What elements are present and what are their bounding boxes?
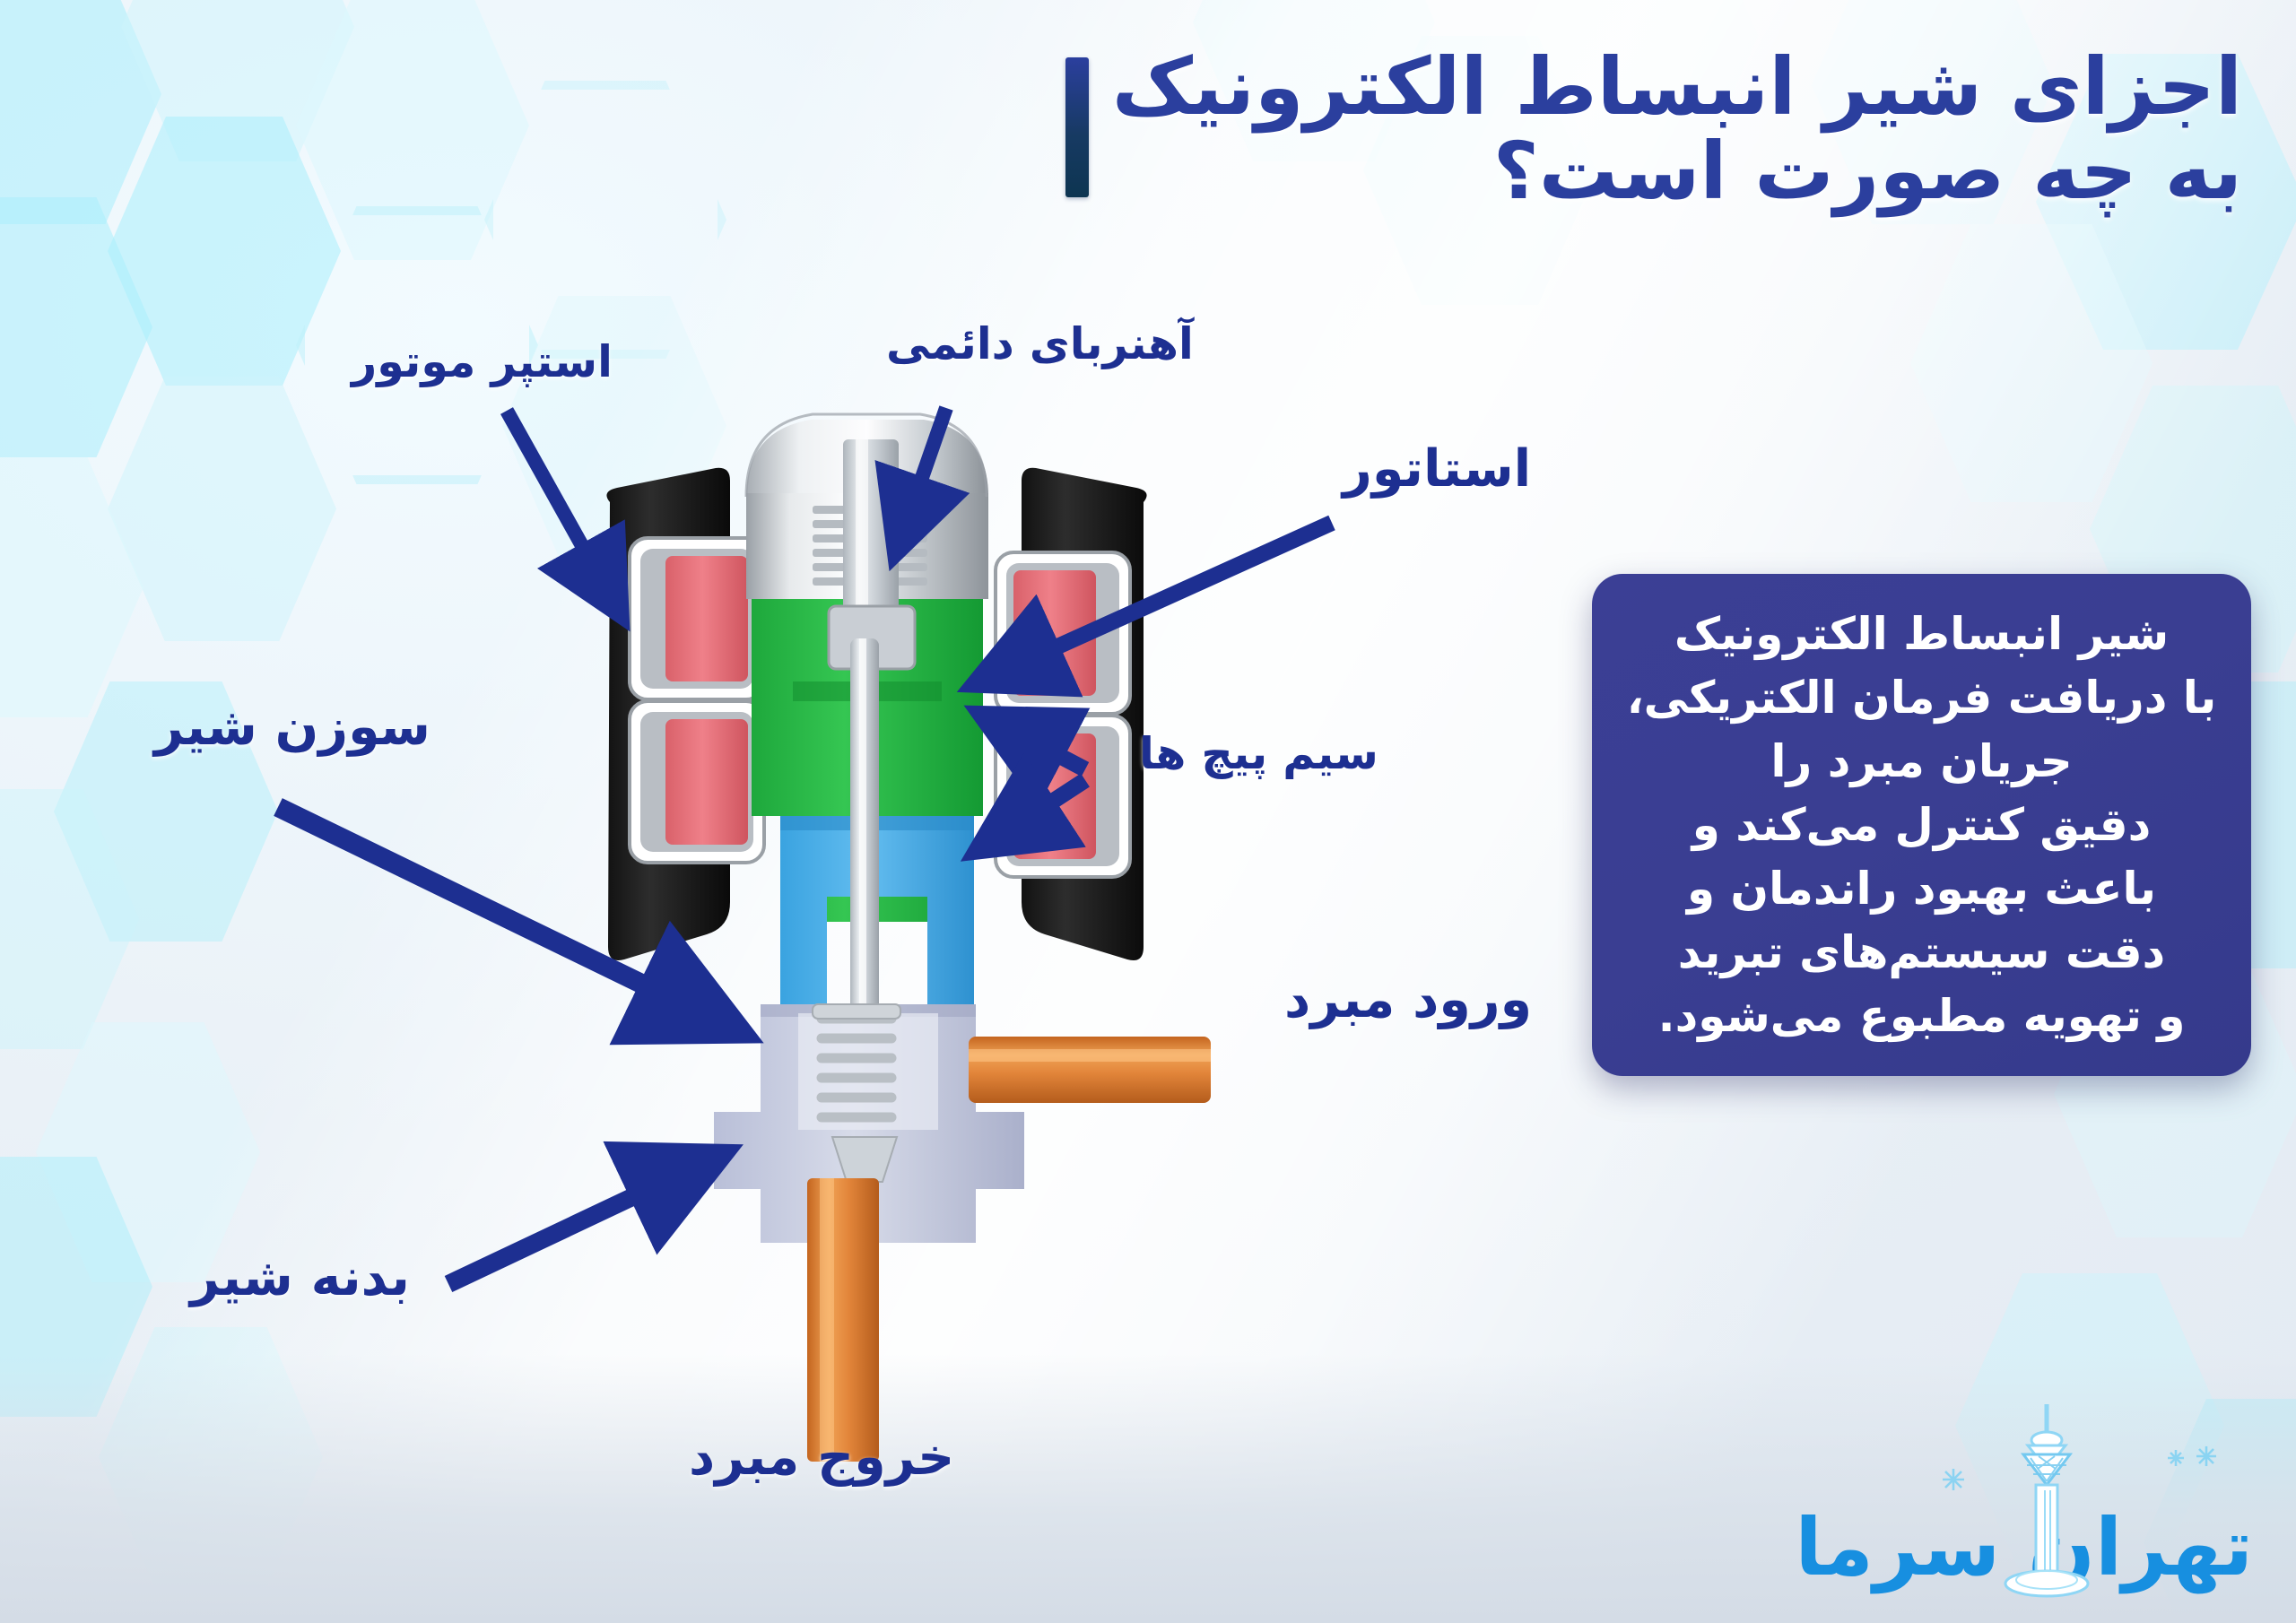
callout-label-refrigerant-outlet: خروج مبرد: [689, 1428, 954, 1487]
callout-label-valve-needle: سوزن شیر: [154, 698, 430, 757]
info-line: باعث بهبود راندمان و: [1622, 857, 2221, 921]
info-card: شیر انبساط الکترونیک با دریافت فرمان الک…: [1592, 574, 2251, 1076]
info-line: جریان مبرد را: [1622, 730, 2221, 794]
milad-tower-icon: [1910, 1404, 2260, 1610]
title-line-2: به چه صورت است؟: [1112, 129, 2242, 213]
info-line: دقیق کنترل می‌کند و: [1622, 794, 2221, 857]
info-line: و تهویه مطبوع می‌شود.: [1622, 985, 2221, 1048]
callout-label-valve-body: بدنه شیر: [190, 1248, 410, 1307]
infographic-canvas: اجزای شیر انبساط الکترونیک به چه صورت اس…: [0, 0, 2296, 1623]
brand-logo[interactable]: تهران سرما: [1910, 1404, 2260, 1610]
info-line: با دریافت فرمان الکتریکی،: [1622, 666, 2221, 730]
callout-label-permanent-magnet: آهنربای دائمی: [886, 318, 1194, 369]
callout-label-stepper-motor: استپر موتور: [352, 336, 613, 387]
page-title: اجزای شیر انبساط الکترونیک به چه صورت اس…: [1065, 45, 2242, 213]
title-line-1: اجزای شیر انبساط الکترونیک: [1112, 40, 2242, 133]
title-accent-bar: [1065, 57, 1089, 197]
callout-label-refrigerant-inlet: ورود مبرد: [1284, 970, 1532, 1029]
callout-label-stator: استاتور: [1343, 439, 1531, 499]
info-line: دقت سیستم‌های تبرید: [1622, 921, 2221, 985]
page-title-text: اجزای شیر انبساط الکترونیک به چه صورت اس…: [1112, 45, 2242, 213]
callout-label-coils: سیم پیچ ها: [1139, 728, 1378, 779]
info-line: شیر انبساط الکترونیک: [1622, 603, 2221, 666]
expansion-valve-cutaway-illustration: [547, 386, 1211, 1462]
info-card-text: شیر انبساط الکترونیک با دریافت فرمان الک…: [1622, 603, 2221, 1048]
